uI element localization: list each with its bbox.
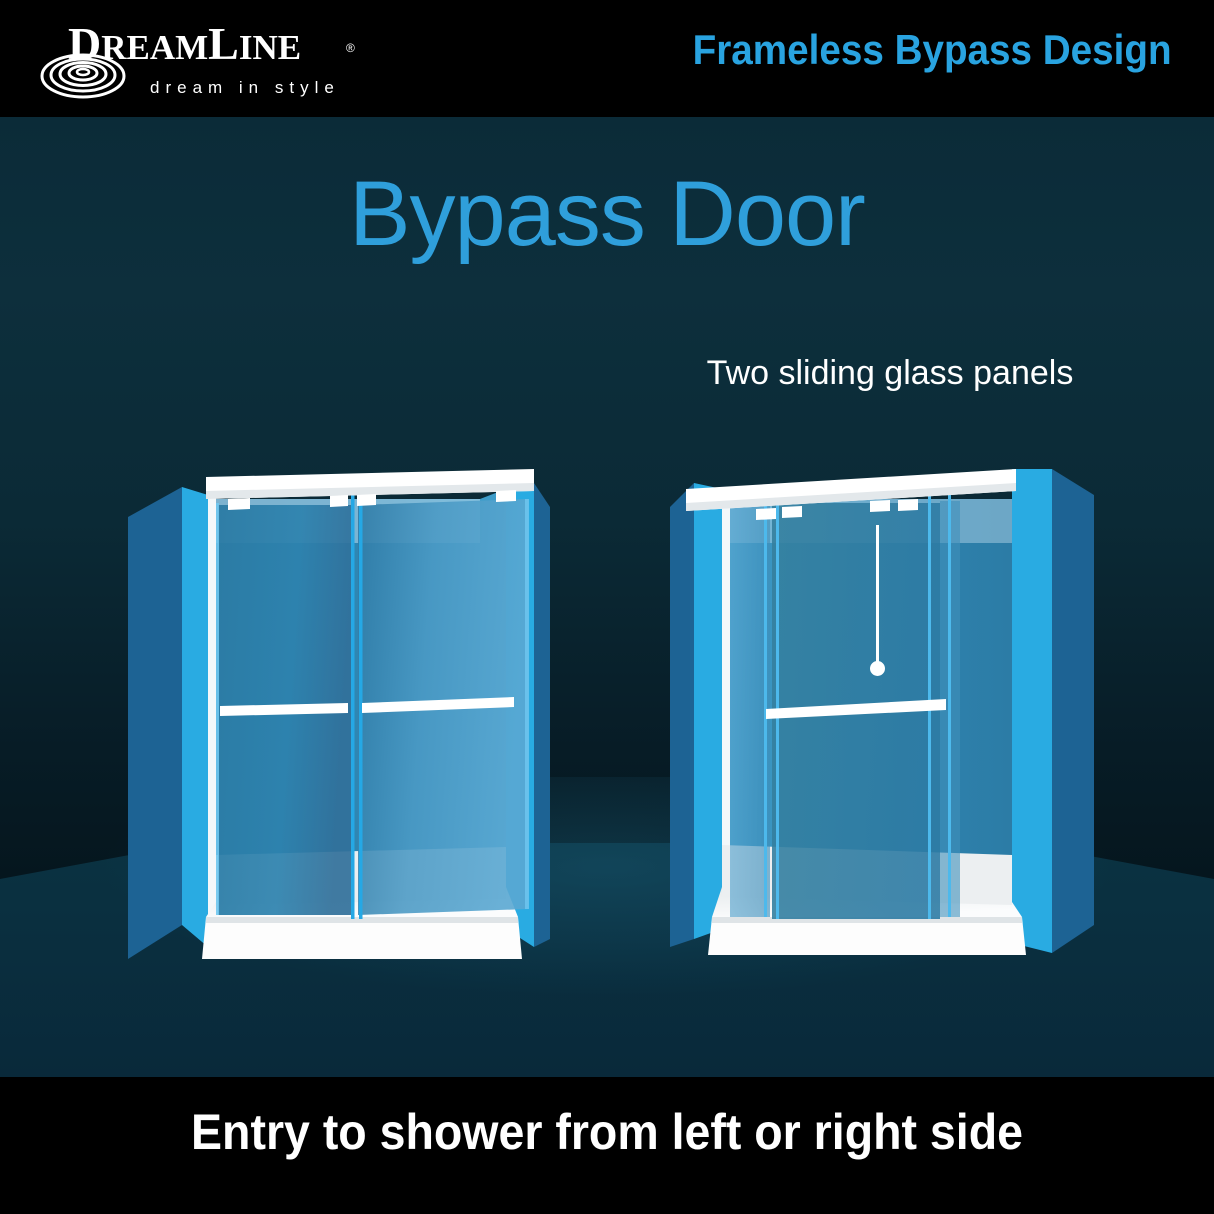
left-outer-side-wall (670, 483, 694, 947)
registered-trademark-mark: ® (346, 42, 355, 54)
annotation-label: Two sliding glass panels (620, 354, 1160, 393)
roller-bracket-4 (898, 499, 918, 511)
right-outer-side-wall (534, 483, 550, 947)
logo-letter-l: L (208, 18, 239, 69)
footer-caption: Entry to shower from left or right side (42, 1103, 1171, 1161)
annotation-leader-line (876, 525, 879, 670)
annotation-leader-dot (870, 661, 885, 676)
bypass-shower-enclosure-doors-closed (110, 447, 560, 1027)
logo-wordmark: DREAMLINE (68, 16, 368, 72)
logo-tagline: dream in style (150, 78, 340, 98)
infographic-page: Bypass Door Two sliding glass panels (0, 0, 1214, 1214)
roller-bracket-1 (756, 508, 776, 520)
footer-bar: Entry to shower from left or right side (0, 1077, 1214, 1214)
left-bright-post (694, 483, 722, 939)
roller-bracket-1 (228, 498, 250, 510)
glass-edge-center-a (351, 487, 355, 919)
shower-base-front-rim (202, 917, 522, 959)
header-title: Frameless Bypass Design (693, 26, 1172, 74)
roller-bracket-4 (496, 490, 516, 502)
roller-bracket-2 (330, 495, 348, 507)
glass-edge-right-outer (525, 499, 529, 909)
page-title: Bypass Door (0, 162, 1214, 267)
left-outer-side-wall (128, 487, 182, 959)
roller-bracket-3 (357, 494, 376, 506)
logo-text-ine: INE (239, 28, 301, 67)
logo-letter-d: D (68, 18, 101, 69)
roller-bracket-3 (870, 500, 890, 512)
bypass-shower-enclosure-doors-open (660, 447, 1110, 1027)
glass-edge-4 (948, 495, 951, 917)
right-outer-side-wall (1052, 469, 1094, 953)
left-bright-post (182, 487, 208, 947)
logo-text-ream: REAM (101, 28, 208, 67)
right-bright-post (1012, 469, 1052, 953)
glass-edge-1 (764, 493, 767, 917)
left-post-white-edge (208, 495, 216, 949)
glass-edge-center-b (359, 487, 363, 919)
illustration-stage: Bypass Door Two sliding glass panels (0, 117, 1214, 1077)
header-bar: DREAMLINE ® dream in style Frameless Byp… (0, 0, 1214, 117)
glass-edge-left-outer (216, 503, 219, 915)
roller-bracket-2 (782, 506, 802, 518)
brand-logo[interactable]: DREAMLINE ® dream in style (40, 16, 370, 104)
glass-edge-2 (776, 493, 779, 919)
